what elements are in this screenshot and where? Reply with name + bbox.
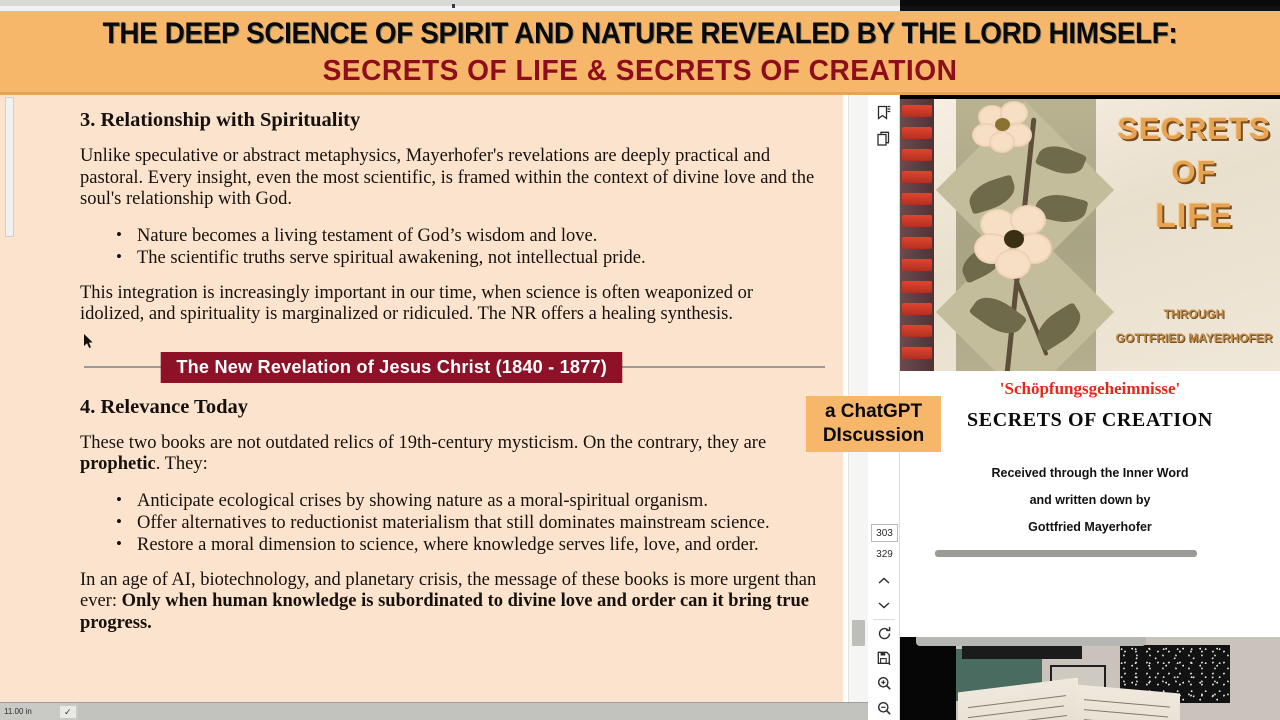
slide-secrets-of-creation: 'Schöpfungsgeheimnisse' SECRETS OF CREAT… [900, 371, 1280, 637]
section-4-bullet-list: Anticipate ecological crises by showing … [80, 490, 830, 556]
section-3-heading: 3. Relationship with Spirituality [80, 109, 830, 132]
section-4-heading: 4. Relevance Today [80, 396, 830, 419]
list-item: Nature becomes a living testament of God… [80, 225, 830, 247]
pdf-document-viewer[interactable]: 3. Relationship with Spirituality Unlike… [0, 95, 868, 720]
rotate-icon[interactable] [874, 623, 894, 643]
creation-subtitle-3: Gottfried Mayerhofer [900, 520, 1280, 534]
copy-pages-icon[interactable] [874, 129, 894, 149]
page-number-input[interactable]: 303 [871, 524, 898, 542]
list-item: The scientific truths serve spiritual aw… [80, 247, 830, 269]
section-3-paragraph-1: Unlike speculative or abstract metaphysi… [80, 146, 820, 211]
creation-english-title: SECRETS OF CREATION [900, 409, 1280, 432]
cover-author-label: GOTTFRIED MAYERHOFER [1108, 331, 1280, 345]
list-item: Offer alternatives to reductionist mater… [80, 512, 830, 534]
video-feed[interactable]: Simona Panaitescu [900, 637, 1280, 720]
para3-suffix: . They: [156, 454, 208, 474]
ruler-tick-marker [452, 4, 455, 8]
creation-subtitle-1: Received through the Inner Word [900, 466, 1280, 480]
para3-prefix: These two books are not outdated relics … [80, 433, 766, 453]
para3-bold: prophetic [80, 454, 156, 474]
inner-scroll-indicator[interactable] [5, 97, 14, 237]
banner-title-line2: SECRETS OF LIFE & SECRETS OF CREATION [19, 54, 1261, 88]
total-pages-label: 329 [871, 547, 898, 561]
mouse-cursor [84, 334, 94, 349]
banner-title-line1: THE DEEP SCIENCE OF SPIRIT AND NATURE RE… [45, 14, 1235, 54]
badge-line-1: a ChatGPT [825, 400, 922, 424]
bookmark-icon[interactable] [874, 103, 894, 123]
document-content: 3. Relationship with Spirituality Unlike… [80, 95, 830, 634]
cover-through-label: THROUGH [1108, 307, 1280, 321]
divider-label: The New Revelation of Jesus Christ (1840… [161, 352, 623, 383]
save-icon[interactable] [874, 648, 894, 668]
rail-separator [873, 619, 895, 620]
new-revelation-divider: The New Revelation of Jesus Christ (1840… [80, 352, 825, 382]
status-measurement: 11.00 in [4, 707, 32, 716]
section-4-paragraph-1: These two books are not outdated relics … [80, 433, 820, 476]
presentation-title-banner: THE DEEP SCIENCE OF SPIRIT AND NATURE RE… [0, 11, 1280, 95]
chevron-up-icon[interactable] [874, 571, 894, 591]
status-check-icon[interactable]: ✓ [60, 706, 76, 718]
cover-word-life: LIFE [1108, 197, 1280, 236]
book-cover-secrets-of-life: SECRETS OF LIFE THROUGH GOTTFRIED MAYERH… [900, 99, 1280, 371]
status-bar: 11.00 in ✓ [0, 702, 868, 720]
document-page: 3. Relationship with Spirituality Unlike… [5, 95, 843, 702]
cover-spiral-spine [900, 99, 934, 371]
section-3-bullet-list: Nature becomes a living testament of God… [80, 225, 830, 269]
cover-word-of: OF [1108, 154, 1280, 190]
list-item: Anticipate ecological crises by showing … [80, 490, 830, 512]
zoom-out-icon[interactable] [874, 698, 894, 718]
badge-line-2: DIscussion [823, 424, 924, 448]
list-item: Restore a moral dimension to science, wh… [80, 534, 830, 556]
status-bar-filler [78, 703, 868, 720]
zoom-in-icon[interactable] [874, 673, 894, 693]
media-column: SECRETS OF LIFE THROUGH GOTTFRIED MAYERH… [900, 95, 1280, 720]
video-top-control-bar[interactable] [916, 637, 1146, 646]
scrollbar-thumb[interactable] [852, 620, 865, 646]
creation-german-title: 'Schöpfungsgeheimnisse' [900, 379, 1280, 399]
para4-bold: Only when human knowledge is subordinate… [80, 591, 809, 633]
creation-subtitle-2: and written down by [900, 493, 1280, 507]
section-4-paragraph-2: In an age of AI, biotechnology, and plan… [80, 570, 820, 635]
cover-title-block: SECRETS OF LIFE THROUGH GOTTFRIED MAYERH… [1108, 99, 1280, 371]
creation-progress-bar [935, 550, 1197, 557]
chatgpt-discussion-badge: a ChatGPT DIscussion [806, 396, 941, 452]
screen-root: THE DEEP SCIENCE OF SPIRIT AND NATURE RE… [0, 0, 1280, 720]
section-3-paragraph-2: This integration is increasingly importa… [80, 283, 820, 326]
cover-word-secrets: SECRETS [1108, 111, 1280, 147]
chevron-down-icon[interactable] [874, 595, 894, 615]
